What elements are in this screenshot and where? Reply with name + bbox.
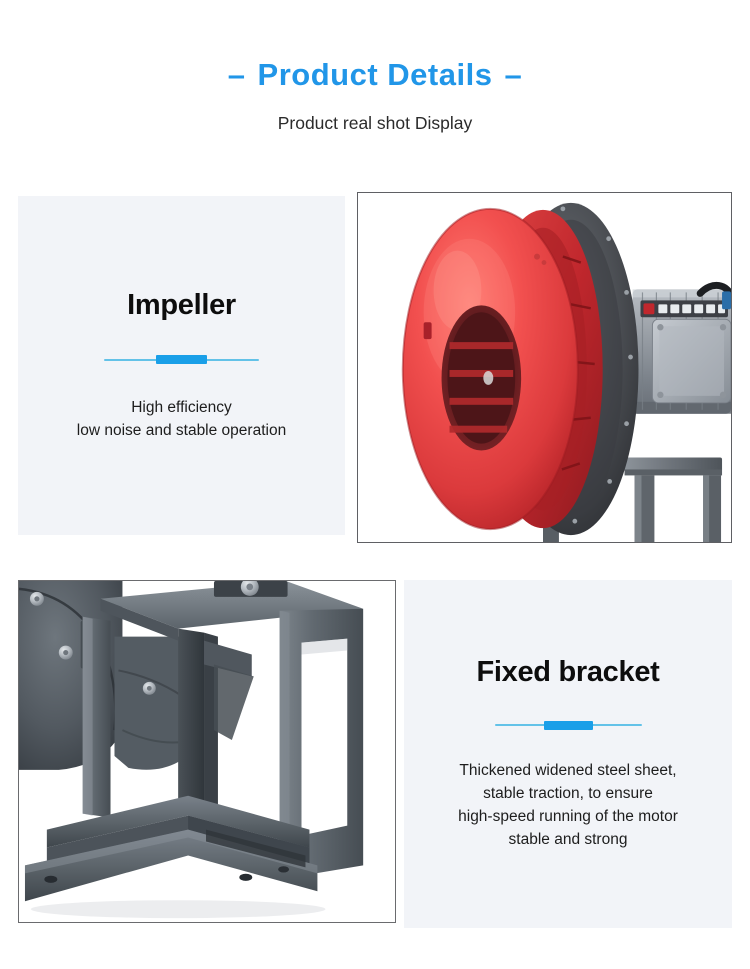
bracket-left-post	[83, 617, 111, 818]
fixed-bracket-text-panel: Fixed bracket Thickened widened steel sh…	[404, 580, 732, 928]
divider-center-bar	[544, 721, 593, 730]
page-header: –Product Details– Product real shot Disp…	[0, 0, 750, 134]
section-impeller: Impeller High efficiency low noise and s…	[18, 192, 732, 543]
section-fixed-bracket: Fixed bracket Thickened widened steel sh…	[18, 580, 732, 928]
impeller-photo-graphic	[358, 193, 731, 542]
impeller-shroud	[403, 209, 578, 529]
fixed-bracket-photo	[18, 580, 396, 923]
title-dash-right: –	[504, 57, 522, 92]
page-title: –Product Details–	[0, 58, 750, 92]
impeller-divider	[104, 355, 259, 365]
impeller-heading: Impeller	[127, 289, 236, 322]
divider-center-bar	[156, 355, 207, 364]
impeller-text-panel: Impeller High efficiency low noise and s…	[18, 196, 345, 535]
title-text: Product Details	[258, 57, 493, 92]
impeller-description: High efficiency low noise and stable ope…	[77, 397, 286, 443]
fixed-bracket-divider	[495, 720, 642, 730]
title-dash-left: –	[228, 57, 246, 92]
impeller-photo	[357, 192, 732, 543]
page-subtitle: Product real shot Display	[0, 113, 750, 134]
fixed-bracket-heading: Fixed bracket	[476, 656, 659, 689]
fixed-bracket-description: Thickened widened steel sheet, stable tr…	[458, 760, 678, 852]
motor-assembly	[633, 285, 731, 413]
fixed-bracket-photo-graphic	[19, 581, 395, 922]
